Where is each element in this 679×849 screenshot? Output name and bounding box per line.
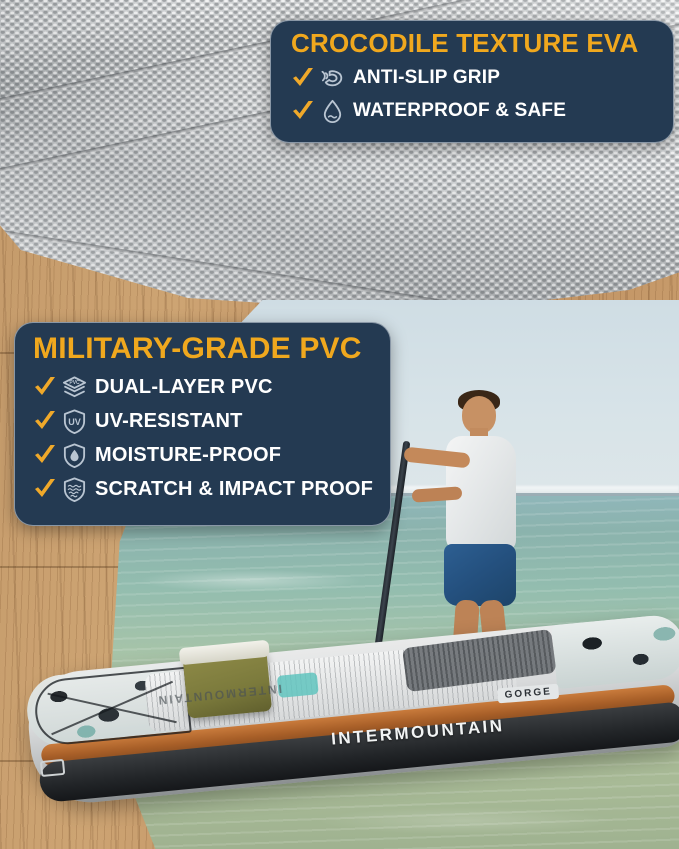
card-eva-feature-list: ANTI-SLIP GRIP WATERPROOF & SAFE bbox=[291, 65, 657, 125]
feature-label: WATERPROOF & SAFE bbox=[353, 100, 566, 122]
water-bottle bbox=[277, 672, 319, 698]
water-drop-icon bbox=[319, 98, 346, 125]
pvc-badge-text: PVC bbox=[69, 380, 80, 386]
checkmark-icon bbox=[33, 444, 57, 466]
uv-shield-icon: UV bbox=[61, 408, 88, 435]
feature-label: DUAL-LAYER PVC bbox=[95, 376, 273, 399]
feature-anti-slip-grip: ANTI-SLIP GRIP bbox=[291, 65, 657, 92]
feature-moisture-proof: MOISTURE-PROOF bbox=[33, 442, 374, 469]
board-tail-camo-graphic bbox=[551, 613, 679, 689]
uv-badge-text: UV bbox=[68, 417, 81, 427]
card-eva-title: CROCODILE TEXTURE EVA bbox=[291, 30, 657, 58]
pvc-layers-icon: PVC bbox=[61, 374, 88, 401]
feature-label: ANTI-SLIP GRIP bbox=[353, 67, 500, 89]
feature-label: SCRATCH & IMPACT PROOF bbox=[95, 478, 373, 501]
checkmark-icon bbox=[33, 478, 57, 500]
checkmark-icon bbox=[291, 67, 315, 89]
callout-card-eva: CROCODILE TEXTURE EVA ANTI-SLIP GRIP bbox=[270, 20, 674, 143]
feature-waterproof-safe: WATERPROOF & SAFE bbox=[291, 98, 657, 125]
feature-dual-layer-pvc: PVC DUAL-LAYER PVC bbox=[33, 374, 374, 401]
anti-slip-foot-icon bbox=[319, 65, 346, 92]
checkmark-icon bbox=[33, 410, 57, 432]
callout-card-pvc: MILITARY-GRADE PVC PVC DUAL-LAYER P bbox=[14, 322, 391, 526]
infographic-scene: INTERMOUNTAIN INTERMOUNTAIN GORGE CROCOD… bbox=[0, 0, 679, 849]
feature-label: MOISTURE-PROOF bbox=[95, 444, 281, 467]
feature-scratch-impact-proof: SCRATCH & IMPACT PROOF bbox=[33, 476, 374, 503]
feature-uv-resistant: UV UV-RESISTANT bbox=[33, 408, 374, 435]
board-d-ring bbox=[40, 759, 65, 777]
card-pvc-feature-list: PVC DUAL-LAYER PVC UV UV-RESIST bbox=[33, 374, 374, 503]
checkmark-icon bbox=[291, 100, 315, 122]
checkmark-icon bbox=[33, 376, 57, 398]
moisture-shield-icon bbox=[61, 442, 88, 469]
feature-label: UV-RESISTANT bbox=[95, 410, 243, 433]
card-pvc-title: MILITARY-GRADE PVC bbox=[33, 333, 374, 365]
paddler-shorts bbox=[444, 544, 516, 606]
scratch-shield-icon bbox=[61, 476, 88, 503]
